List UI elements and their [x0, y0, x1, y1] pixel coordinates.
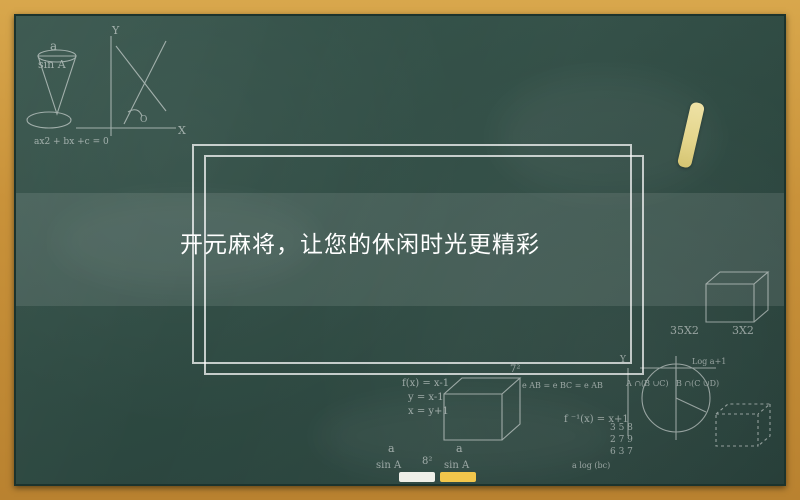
chalk-log-label: a log (bc)	[572, 461, 610, 470]
chalk-eq-fx: f(x) = x-1	[402, 378, 449, 389]
chalk-eq-sina: sin A	[376, 460, 402, 471]
ledge-chalk-yellow	[440, 472, 476, 482]
chalk-smudge	[316, 396, 616, 476]
chalk-eq-a: a	[388, 442, 395, 455]
chalk-label-axis-y: Y	[111, 24, 120, 37]
ledge-chalk-white	[399, 472, 435, 482]
chalk-eq-x: x = y+1	[408, 406, 449, 417]
chalk-stick	[677, 101, 705, 168]
chalk-digits-2: 2 7 9	[610, 435, 633, 445]
chalk-mult-2: 3X2	[732, 324, 754, 337]
chalk-digits-1: 3 5 8	[610, 423, 633, 433]
chalk-digits-3: 6 3 7	[610, 447, 633, 457]
chalk-eq-exp8: 8²	[422, 456, 432, 467]
chalk-inverse-fn: f ⁻¹(x) = x+1	[564, 414, 629, 425]
chalk-note-cube: e AB = e BC = e AB	[522, 381, 603, 390]
screenshot-root: Y X a sin A ax2 + bx +c = 0 O f(x) = x-1…	[0, 0, 800, 500]
chalk-formula-a: a	[50, 39, 57, 53]
chalk-label-axis-x: X	[178, 124, 186, 137]
chalk-eq-sina2: sin A	[444, 460, 470, 471]
page-title: 开元麻将，让您的休闲时光更精彩	[180, 228, 740, 262]
chalk-set-1: A ∩(B ∪C)	[625, 379, 669, 388]
chalk-label-origin: O	[140, 115, 147, 125]
chalk-log-a: Log a+1	[692, 357, 726, 366]
chalk-eq-a2: a	[456, 442, 463, 455]
chalk-set-2: B ∩(C ∪D)	[676, 379, 719, 388]
chalk-mult-1: 35X2	[670, 324, 699, 337]
chalk-formula-sina: sin A	[38, 58, 67, 71]
chalk-formula-quadratic: ax2 + bx +c = 0	[34, 137, 109, 147]
chalk-eq-y: y = x-1	[407, 392, 444, 403]
